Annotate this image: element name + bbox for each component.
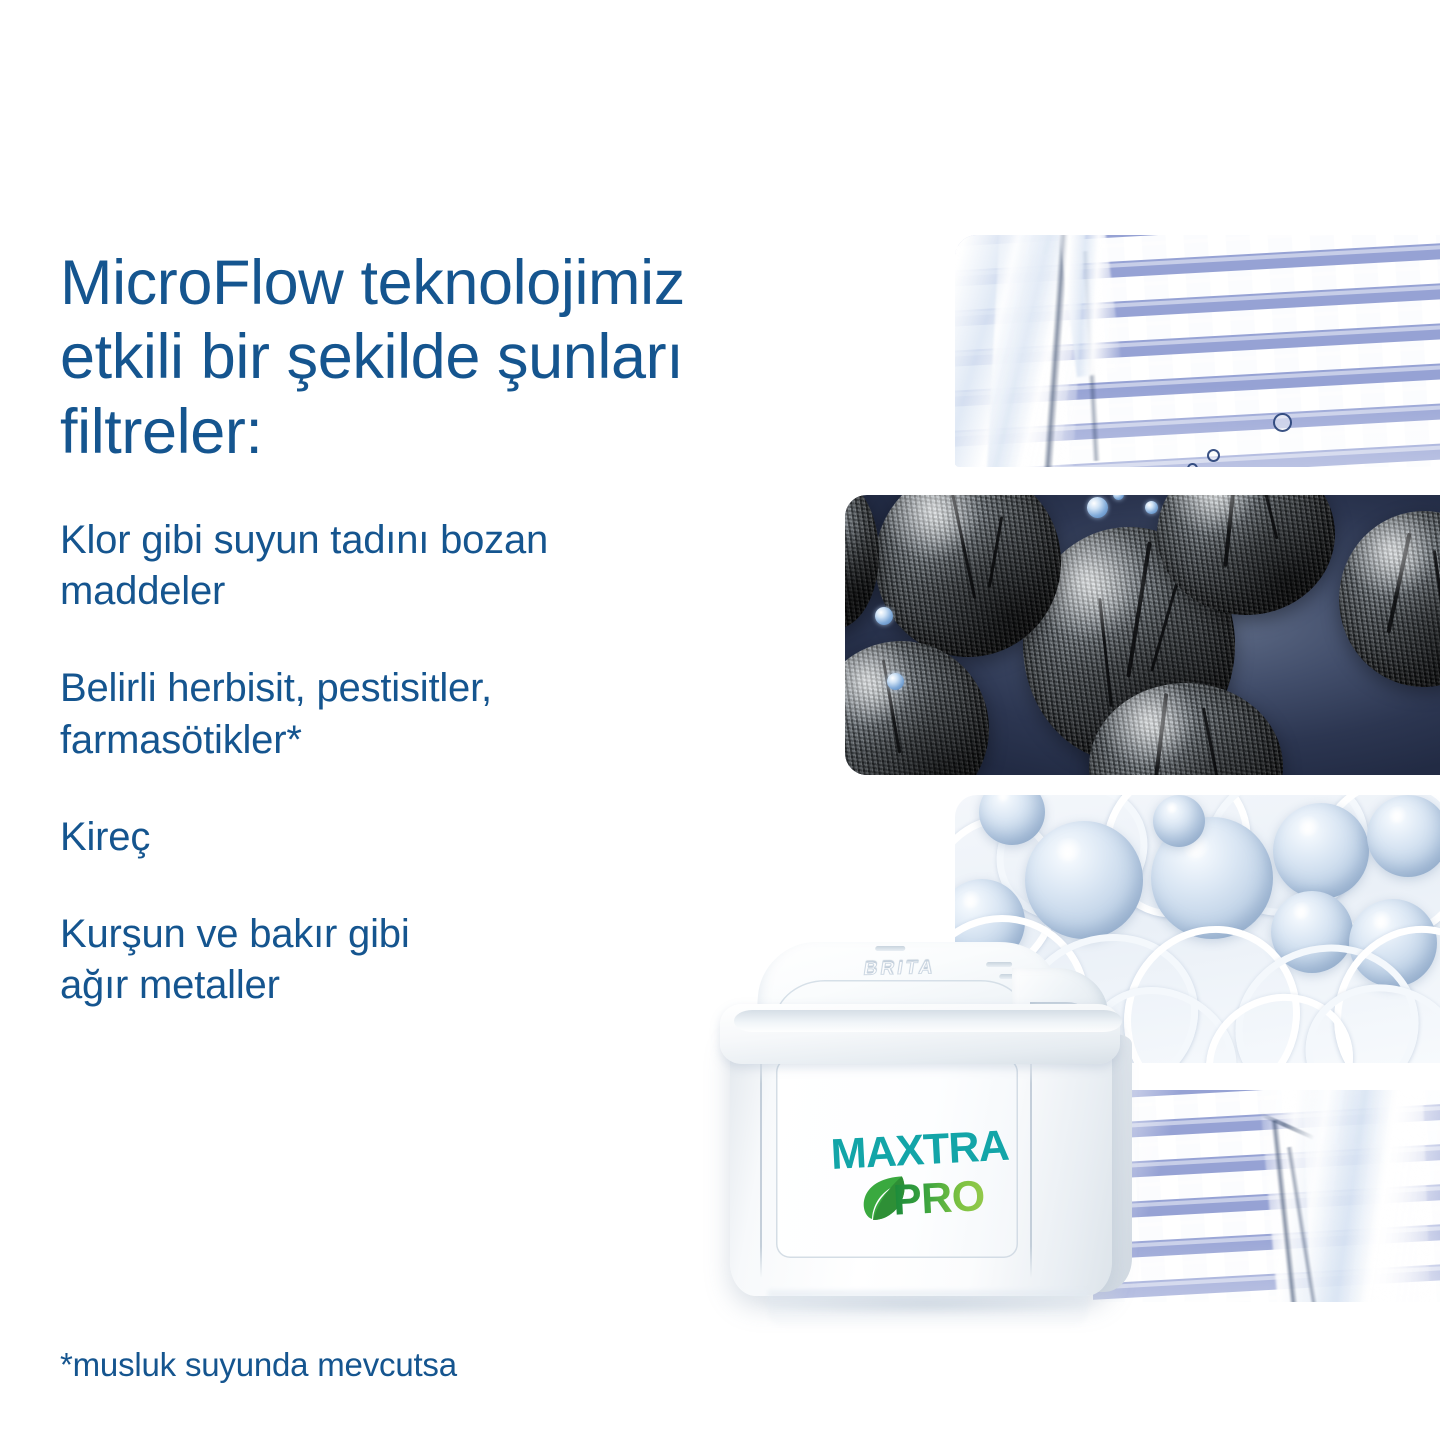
page-title: MicroFlow teknolojimiz etkili bir şekild… xyxy=(60,246,890,469)
logo-maxtra-wordmark: MAXTRA xyxy=(830,1124,1032,1177)
air-bubble-icon xyxy=(1145,501,1158,514)
water-droplet-icon xyxy=(1273,413,1292,432)
logo-pro-wordmark: PRO xyxy=(892,1175,986,1223)
mesh-with-water-stream-image xyxy=(1093,1090,1440,1302)
maxtra-pro-logo: MAXTRA PRO xyxy=(832,1134,1032,1246)
product-feature-graphic: BRITA MAXTRA PRO Mic xyxy=(0,0,1440,1440)
activated-carbon-pearls-image xyxy=(845,495,1440,775)
cartridge-reflection xyxy=(768,1290,1088,1330)
list-item: Kurşun ve bakır gibi ağır metaller xyxy=(60,909,890,1011)
list-item: Belirli herbisit, pestisitler, farmasöti… xyxy=(60,663,890,765)
footnote-text: *musluk suyunda mevcutsa xyxy=(60,1346,457,1384)
list-item: Kireç xyxy=(60,812,890,863)
air-bubble-icon xyxy=(1113,495,1124,500)
list-item: Klor gibi suyun tadını bozan maddeler xyxy=(60,515,890,617)
copy-column: MicroFlow teknolojimiz etkili bir şekild… xyxy=(60,246,890,1057)
air-bubble-icon xyxy=(1087,497,1108,518)
pleated-mesh-filter-image xyxy=(955,235,1440,467)
water-droplet-icon xyxy=(1187,463,1198,467)
benefit-list: Klor gibi suyun tadını bozan maddeler Be… xyxy=(60,515,890,1011)
water-droplet-icon xyxy=(1207,449,1220,462)
